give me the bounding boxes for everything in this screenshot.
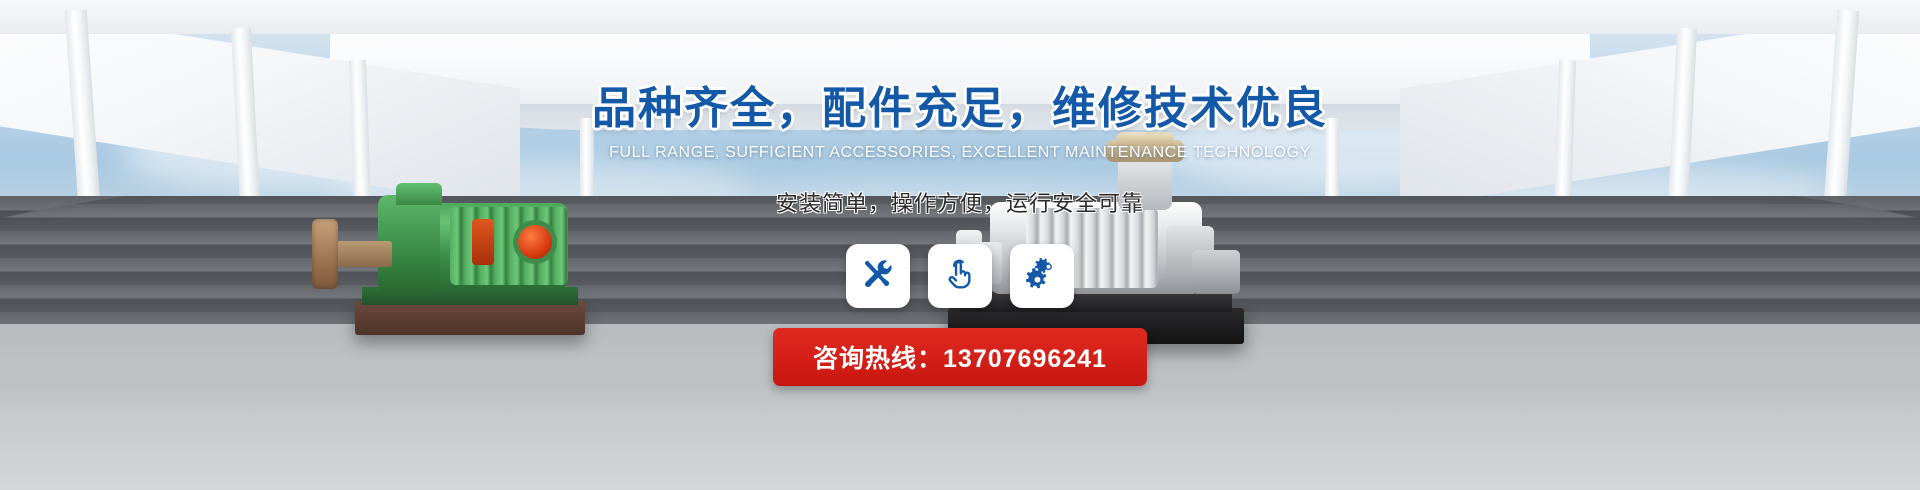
feature-icon-box-reliability[interactable]: [1010, 244, 1074, 308]
tools-wrench-screwdriver-icon: [861, 257, 895, 296]
banner-subtitle-chinese: 安装简单，操作方便，运行安全可靠: [776, 186, 1144, 218]
feature-icon-row: [846, 244, 1074, 308]
feature-icon-box-maintenance[interactable]: [846, 244, 910, 308]
hand-touch-pointer-icon: [943, 257, 977, 296]
gears-icon: [1025, 257, 1059, 296]
hotline-badge[interactable]: 咨询热线：13707696241: [773, 328, 1147, 386]
banner-content: 品种齐全，配件充足，维修技术优良 FULL RANGE, SUFFICIENT …: [0, 0, 1920, 490]
banner-headline: 品种齐全，配件充足，维修技术优良: [592, 72, 1328, 136]
product-hero-banner: 品种齐全，配件充足，维修技术优良 FULL RANGE, SUFFICIENT …: [0, 0, 1920, 490]
banner-subtitle-english: FULL RANGE, SUFFICIENT ACCESSORIES, EXCE…: [609, 144, 1311, 162]
feature-icon-box-operation[interactable]: [928, 244, 992, 308]
